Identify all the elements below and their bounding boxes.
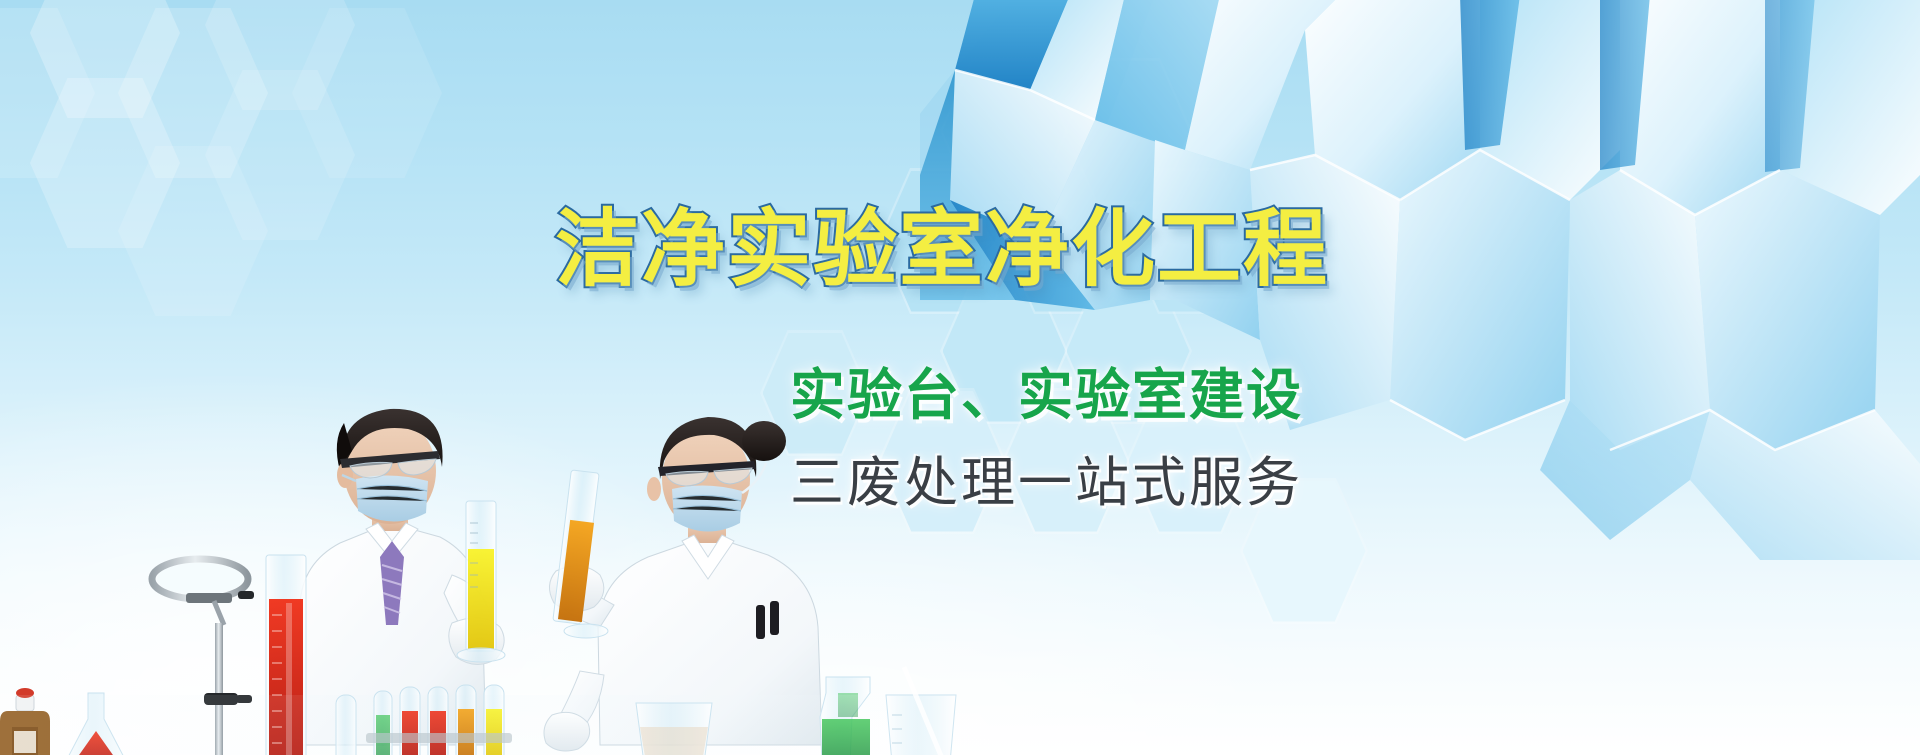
male-scientist <box>300 409 505 745</box>
beaker <box>636 703 712 755</box>
laboratory-scientists-photo <box>0 275 960 755</box>
background-wash <box>0 0 1920 755</box>
yellow-liquid-cylinder <box>457 501 505 662</box>
pen-in-pocket <box>756 601 779 639</box>
safety-glasses <box>340 451 440 478</box>
hexagon-watermark <box>0 0 1920 755</box>
tall-graduated-cylinder <box>266 555 306 755</box>
amber-liquid-cylinder <box>553 470 608 638</box>
crystal-polygon-cluster <box>920 0 1920 560</box>
test-tube-rack <box>366 685 512 755</box>
subheadline-waste-treatment: 三废处理一站式服务 <box>790 438 1303 517</box>
beaker-large <box>886 695 956 755</box>
test-tube-clear <box>336 695 356 755</box>
banner-root: 洁净实验室净化工程 实验台、实验室建设 三废处理一站式服务 <box>0 0 1920 755</box>
headline-group: 洁净实验室净化工程 实验台、实验室建设 三废处理一站式服务 <box>0 0 1920 755</box>
magnifier-on-stand <box>152 559 254 755</box>
bench-glassware <box>0 555 956 755</box>
amber-reagent-bottle <box>0 688 50 755</box>
erlenmeyer-flask <box>64 693 128 755</box>
subheadline-services: 实验台、实验室建设 <box>790 350 1303 430</box>
conical-flask-green <box>820 677 870 755</box>
female-scientist <box>544 417 822 751</box>
page-title: 洁净实验室净化工程 <box>555 182 1329 303</box>
safety-glasses <box>658 461 756 486</box>
